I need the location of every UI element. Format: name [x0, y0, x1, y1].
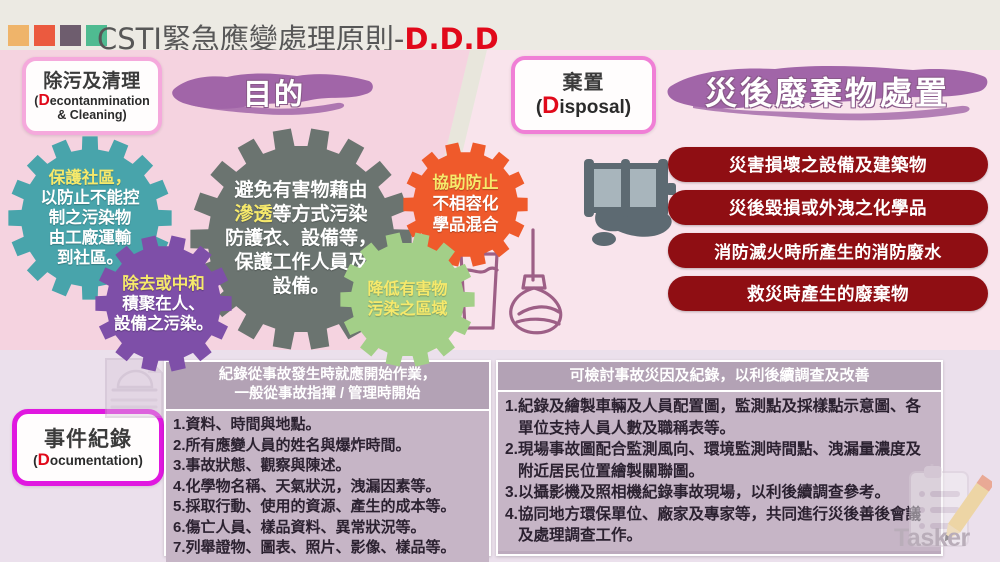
list-item-number: 3. [173, 456, 186, 477]
color-swatch-group [8, 25, 107, 46]
gear-label-purple: 除去或中和積聚在人、 設備之污染。 [114, 274, 213, 334]
list-item-number: 1. [505, 396, 518, 418]
list-item: 4.協同地方環保單位、廠家及專家等，共同進行災後善後會議及處理調查工作。 [505, 504, 935, 547]
brush-purpose-label: 目的 [243, 71, 305, 113]
waste-bar-4[interactable]: 救災時產生的廢棄物 [668, 276, 988, 311]
list-item: 1.紀錄及繪製車輛及人員配置圖，監測點及採樣點示意圖、各單位支持人員人數及職稱表… [505, 396, 935, 439]
list-item-number: 1. [173, 415, 186, 436]
brush-heading-waste: 災後廢棄物處置 [665, 60, 990, 122]
list-item-text: 所有應變人員的姓名與爆炸時間。 [186, 436, 483, 457]
panel-review-list: 1.紀錄及繪製車輛及人員配置圖，監測點及採樣點示意圖、各單位支持人員人數及職稱表… [498, 392, 941, 551]
decon-cn: 除污及清理 [43, 71, 141, 93]
gear-label-green: 降低有害物污染之區域 [367, 280, 447, 320]
list-item-number: 2. [173, 436, 186, 457]
list-item-text: 列舉證物、圖表、照片、影像、樣品等。 [186, 538, 483, 559]
waste-category-list: 災害損壞之設備及建築物 災後毀損或外洩之化學品 消防滅火時所產生的消防廢水 救災… [668, 147, 988, 319]
list-item: 2.所有應變人員的姓名與爆炸時間。 [173, 436, 483, 457]
gear-remove-neutralize: 除去或中和積聚在人、 設備之污染。 [95, 235, 232, 372]
swatch-3 [60, 25, 81, 46]
label-decontamination[interactable]: 除污及清理 (Decontanmination & Cleaning) [22, 57, 162, 135]
list-item: 3.事故狀態、觀察與陳述。 [173, 456, 483, 477]
panel-documentation-list: 1.資料、時間與地點。2.所有應變人員的姓名與爆炸時間。3.事故狀態、觀察與陳述… [166, 411, 489, 562]
decon-en: (Decontanmination & Cleaning) [26, 93, 158, 122]
list-item: 2.現場事故圖配合監測風向、環境監測時間點、洩漏量濃度及附近居民位置繪製關聯圖。 [505, 439, 935, 482]
panel-review-heading: 可檢討事故災因及紀錄，以利後續調查及改善 [498, 362, 941, 392]
gear-reduce-area: 降低有害物污染之區域 [340, 232, 475, 367]
brush-waste-label: 災後廢棄物處置 [705, 68, 950, 114]
list-item: 6.傷亡人員、樣品資料、異常狀況等。 [173, 518, 483, 539]
list-item: 7.列舉證物、圖表、照片、影像、樣品等。 [173, 538, 483, 559]
list-item-text: 事故狀態、觀察與陳述。 [186, 456, 483, 477]
list-item-number: 3. [505, 482, 518, 504]
disposal-en: (Disposal) [536, 95, 631, 119]
list-item-number: 4. [173, 477, 186, 498]
list-item-number: 2. [505, 439, 518, 461]
gear-label-red: 協助防止不相容化 學品混合 [433, 173, 499, 236]
list-item-text: 傷亡人員、樣品資料、異常狀況等。 [186, 518, 483, 539]
list-item-text: 化學物名稱、天氣狀況，洩漏因素等。 [186, 477, 483, 498]
panel-documentation: 紀錄從事故發生時就應開始作業， 一般從事故指揮 / 管理時開始 1.資料、時間與… [164, 360, 491, 556]
panel-review: 可檢討事故災因及紀錄，以利後續調查及改善 1.紀錄及繪製車輛及人員配置圖，監測點… [496, 360, 943, 556]
brush-heading-purpose: 目的 [169, 66, 379, 118]
swatch-1 [8, 25, 29, 46]
list-item-text: 資料、時間與地點。 [186, 415, 483, 436]
list-item: 4.化學物名稱、天氣狀況，洩漏因素等。 [173, 477, 483, 498]
disposal-cn: 棄置 [563, 71, 605, 95]
swatch-2 [34, 25, 55, 46]
list-item-text: 現場事故圖配合監測風向、環境監測時間點、洩漏量濃度及附近居民位置繪製關聯圖。 [518, 439, 935, 482]
list-item: 1.資料、時間與地點。 [173, 415, 483, 436]
list-item-text: 協同地方環保單位、廠家及專家等，共同進行災後善後會議及處理調查工作。 [518, 504, 935, 547]
list-item: 5.採取行動、使用的資源、產生的成本等。 [173, 497, 483, 518]
doc-cn: 事件紀錄 [44, 427, 132, 452]
waste-bar-1[interactable]: 災害損壞之設備及建築物 [668, 147, 988, 182]
label-disposal[interactable]: 棄置 (Disposal) [511, 56, 656, 134]
doc-en: (Documentation) [33, 452, 143, 469]
waste-bar-2[interactable]: 災後毀損或外洩之化學品 [668, 190, 988, 225]
list-item: 3.以攝影機及照相機紀錄事故現場，以利後續調查參考。 [505, 482, 935, 504]
list-item-number: 5. [173, 497, 186, 518]
list-item-text: 採取行動、使用的資源、產生的成本等。 [186, 497, 483, 518]
list-item-number: 7. [173, 538, 186, 559]
label-documentation[interactable]: 事件紀錄 (Documentation) [12, 409, 164, 486]
list-item-text: 紀錄及繪製車輛及人員配置圖，監測點及採樣點示意圖、各單位支持人員人數及職稱表等。 [518, 396, 935, 439]
slide-root: CSTI緊急應變處理原則-D.D.D 目的 災後廢棄物處置 保護社區，以防止不能… [0, 0, 1000, 562]
list-item-number: 4. [505, 504, 518, 526]
list-item-number: 6. [173, 518, 186, 539]
list-item-text: 以攝影機及照相機紀錄事故現場，以利後續調查參考。 [518, 482, 935, 504]
watermark-text: Tasker [894, 524, 970, 553]
waste-bar-3[interactable]: 消防滅火時所產生的消防廢水 [668, 233, 988, 268]
